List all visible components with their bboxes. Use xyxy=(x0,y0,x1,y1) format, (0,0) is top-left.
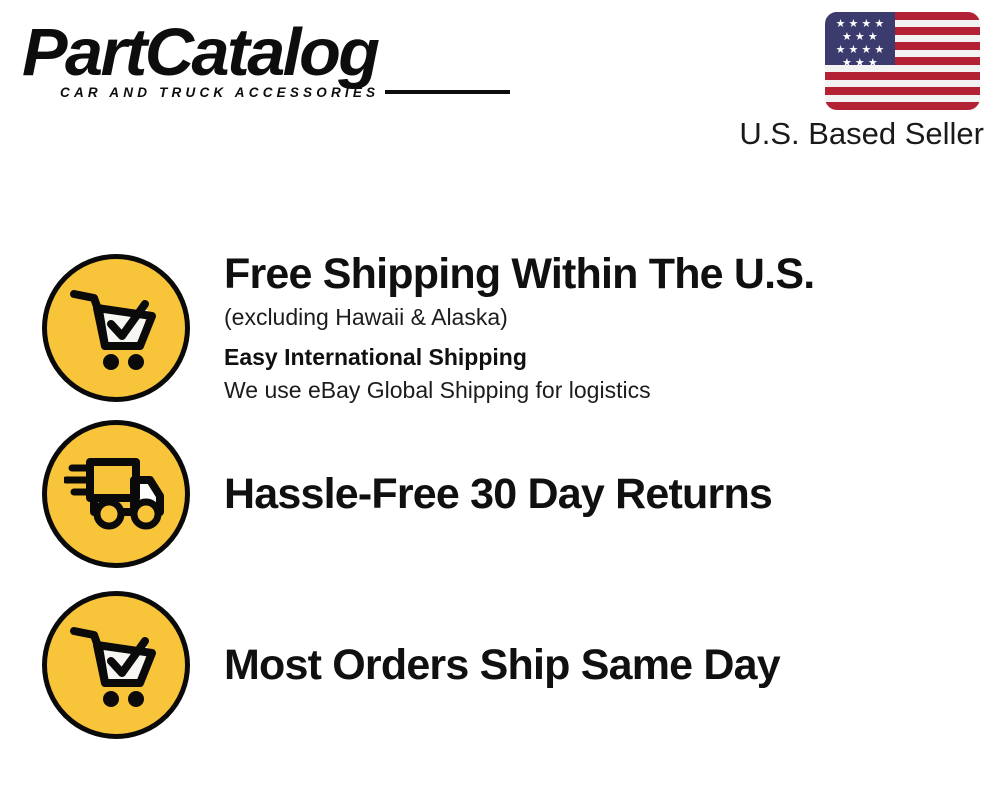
page-header: PartCatalog CAR AND TRUCK ACCESSORIES ★ … xyxy=(0,0,1000,175)
feature-title: Most Orders Ship Same Day xyxy=(224,640,1000,690)
brand-logo[interactable]: PartCatalog CAR AND TRUCK ACCESSORIES xyxy=(22,18,492,100)
feature-title: Free Shipping Within The U.S. xyxy=(224,249,1000,299)
feature-row: Free Shipping Within The U.S. (excluding… xyxy=(0,249,1000,406)
logo-divider-rule xyxy=(385,90,510,94)
seller-badge: ★ ★ ★ ★ ★ ★ ★ ★ ★ ★ ★ ★ ★ ★ U.S. Based S… xyxy=(739,12,984,152)
seller-label: U.S. Based Seller xyxy=(739,116,984,152)
feature-subheading: Easy International Shipping xyxy=(224,341,1000,373)
feature-detail: We use eBay Global Shipping for logistic… xyxy=(224,374,1000,406)
feature-text-block: Hassle-Free 30 Day Returns xyxy=(224,469,1000,519)
shopping-cart-check-icon xyxy=(42,254,190,402)
us-flag-icon: ★ ★ ★ ★ ★ ★ ★ ★ ★ ★ ★ ★ ★ ★ xyxy=(825,12,980,110)
feature-text-block: Free Shipping Within The U.S. (excluding… xyxy=(224,249,1000,406)
feature-note: (excluding Hawaii & Alaska) xyxy=(224,301,1000,333)
feature-row: Hassle-Free 30 Day Returns xyxy=(0,420,1000,568)
flag-star-row: ★ ★ ★ ★ xyxy=(825,19,895,30)
flag-star-row: ★ ★ ★ xyxy=(825,32,895,43)
flag-star-row: ★ ★ ★ ★ xyxy=(825,45,895,56)
delivery-truck-icon xyxy=(42,420,190,568)
flag-star-row: ★ ★ ★ xyxy=(825,58,895,69)
feature-text-block: Most Orders Ship Same Day xyxy=(224,640,1000,690)
feature-title: Hassle-Free 30 Day Returns xyxy=(224,469,1000,519)
feature-row: Most Orders Ship Same Day xyxy=(0,591,1000,739)
logo-wordmark: PartCatalog xyxy=(22,18,501,88)
shopping-cart-check-icon xyxy=(42,591,190,739)
